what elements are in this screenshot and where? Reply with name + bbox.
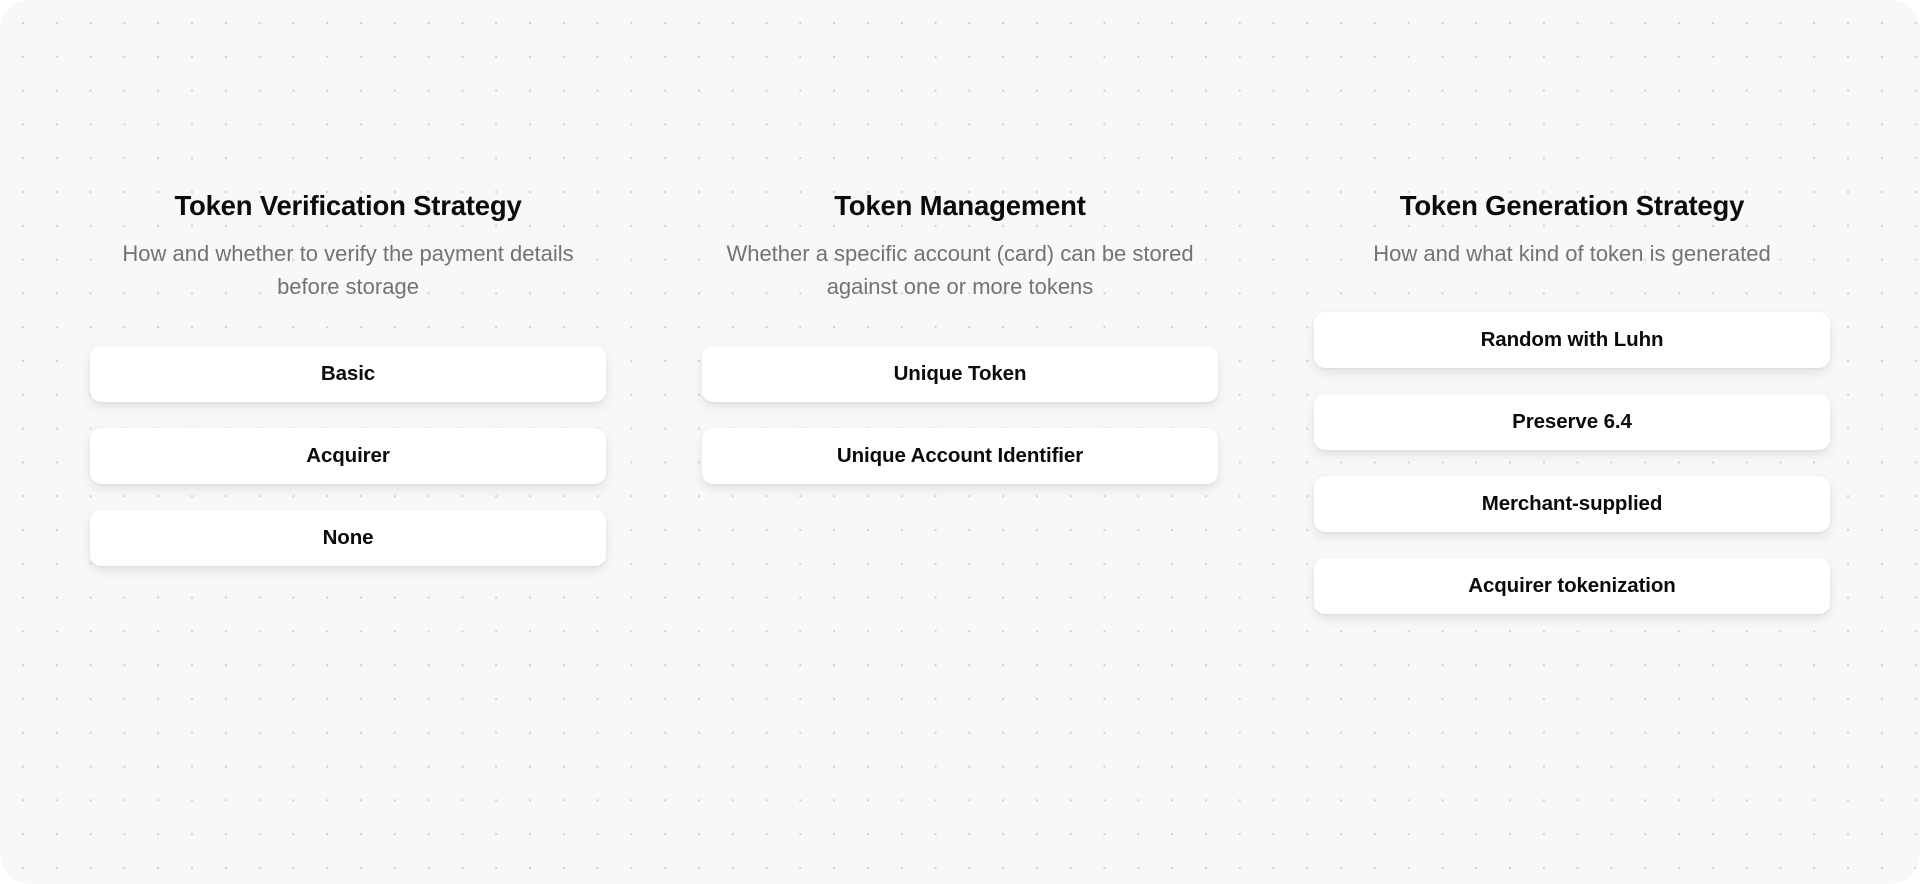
option-card-unique-account-identifier[interactable]: Unique Account Identifier [702,428,1218,484]
column-header: Token Generation Strategy How and what k… [1314,189,1830,270]
option-list: Random with Luhn Preserve 6.4 Merchant-s… [1314,312,1830,614]
column-title: Token Management [710,189,1210,224]
column-description: Whether a specific account (card) can be… [710,237,1210,304]
option-card-none[interactable]: None [90,510,606,566]
option-card-preserve-6-4[interactable]: Preserve 6.4 [1314,394,1830,450]
option-card-basic[interactable]: Basic [90,346,606,402]
column-description: How and what kind of token is generated [1322,237,1822,270]
option-card-unique-token[interactable]: Unique Token [702,346,1218,402]
option-card-acquirer[interactable]: Acquirer [90,428,606,484]
board-canvas: Token Verification Strategy How and whet… [0,0,1920,884]
option-columns-container: Token Verification Strategy How and whet… [0,0,1920,884]
column-header: Token Management Whether a specific acco… [702,189,1218,304]
column-description: How and whether to verify the payment de… [98,237,598,304]
column-token-verification-strategy: Token Verification Strategy How and whet… [90,189,606,566]
option-card-merchant-supplied[interactable]: Merchant-supplied [1314,476,1830,532]
column-title: Token Verification Strategy [98,189,598,224]
column-header: Token Verification Strategy How and whet… [90,189,606,304]
column-title: Token Generation Strategy [1322,189,1822,224]
option-card-random-with-luhn[interactable]: Random with Luhn [1314,312,1830,368]
option-card-acquirer-tokenization[interactable]: Acquirer tokenization [1314,558,1830,614]
column-token-management: Token Management Whether a specific acco… [702,189,1218,484]
option-list: Basic Acquirer None [90,346,606,566]
column-token-generation-strategy: Token Generation Strategy How and what k… [1314,189,1830,614]
option-list: Unique Token Unique Account Identifier [702,346,1218,484]
